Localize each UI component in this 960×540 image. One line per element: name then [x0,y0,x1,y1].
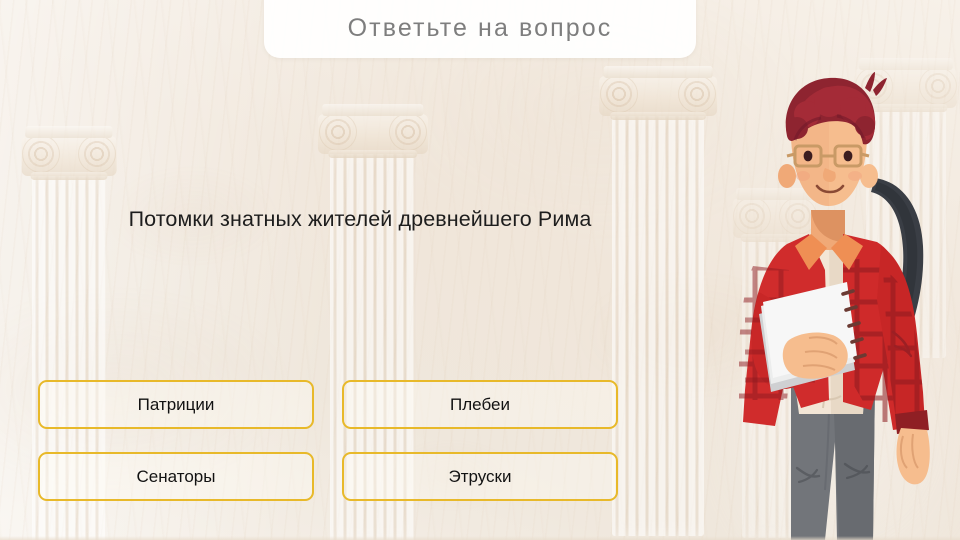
header-panel: Ответьте на вопрос [264,0,696,58]
ionic-column-icon [612,66,704,536]
eye-left [804,151,813,162]
head [778,72,887,206]
student-character-illustration [725,70,960,540]
question-text: Потомки знатных жителей древнейшего Рима [0,207,720,232]
quiz-screen: Ответьте на вопрос Потомки знатных жител… [0,0,960,540]
page-title: Ответьте на вопрос [348,16,613,58]
answer-option-2[interactable]: Плебеи [342,380,618,429]
left-hand [783,333,848,379]
bottom-divider [0,536,960,540]
answer-option-3[interactable]: Сенаторы [38,452,314,501]
answer-options-grid: Патриции Плебеи Сенаторы Этруски [38,380,618,501]
answer-option-4[interactable]: Этруски [342,452,618,501]
right-hand [897,428,930,484]
eye-right [844,151,853,162]
answer-option-1[interactable]: Патриции [38,380,314,429]
